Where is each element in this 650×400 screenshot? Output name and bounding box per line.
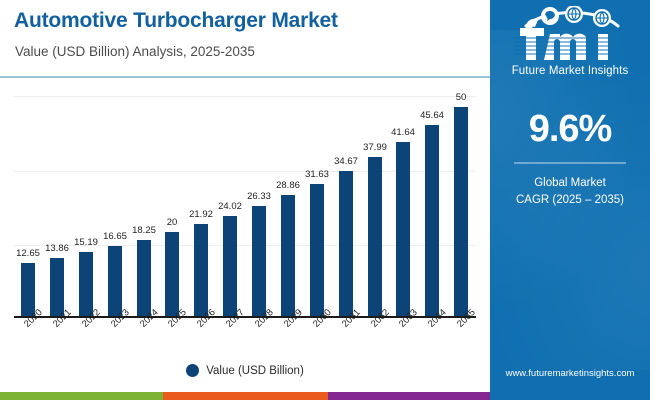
bar-rect xyxy=(137,240,151,316)
bar-rect xyxy=(281,195,295,316)
bar-2035: 50 xyxy=(447,86,476,316)
bar-rect xyxy=(396,142,410,316)
bar-2028: 26.33 xyxy=(245,86,274,316)
bar-rect xyxy=(108,246,122,316)
bar-2020: 12.65 xyxy=(14,86,43,316)
bar-2029: 28.86 xyxy=(274,86,303,316)
bar-rect xyxy=(425,125,439,316)
bar-rect xyxy=(454,107,468,316)
footer-stripe-purple xyxy=(328,392,490,400)
bar-rect xyxy=(310,184,324,316)
cagr-caption-line-2: CAGR (2025 – 2035) xyxy=(490,192,650,209)
chart-screenshot: Automotive Turbocharger Market Value (US… xyxy=(0,0,650,400)
cagr-caption-line-1: Global Market xyxy=(490,175,650,192)
filled-circle-icon xyxy=(186,364,199,377)
brand-panel: Future Market Insights 9.6% Global Marke… xyxy=(490,0,650,400)
fmi-logo-wordmark: Future Market Insights xyxy=(512,65,629,77)
fmi-logo-mark xyxy=(506,6,634,64)
bar-rect xyxy=(194,224,208,316)
cagr-value: 9.6% xyxy=(490,110,650,148)
bar-2025: 20 xyxy=(158,86,187,316)
cagr-divider xyxy=(514,162,626,164)
header-divider xyxy=(0,76,490,78)
website-url: www.futuremarketinsights.com xyxy=(490,368,650,379)
bar-2032: 37.99 xyxy=(361,86,390,316)
footer-stripe-green xyxy=(0,392,163,400)
bar-rect xyxy=(79,252,93,316)
bar-rect xyxy=(21,263,35,316)
bar-rect xyxy=(165,232,179,316)
bar-rect xyxy=(339,171,353,316)
bar-rect xyxy=(50,258,64,316)
fmi-logo: Future Market Insights xyxy=(490,6,650,92)
footer-stripe-orange xyxy=(163,392,328,400)
bar-value-label: 50 xyxy=(437,92,485,103)
plot-area: 12.6513.8615.1916.6518.252021.9224.0226.… xyxy=(14,86,476,318)
chart-panel: Automotive Turbocharger Market Value (US… xyxy=(0,0,490,400)
bar-2031: 34.67 xyxy=(332,86,361,316)
bar-2030: 31.63 xyxy=(303,86,332,316)
bar-series: 12.6513.8615.1916.6518.252021.9224.0226.… xyxy=(14,86,476,316)
bar-2021: 13.86 xyxy=(43,86,72,316)
page-title: Automotive Turbocharger Market xyxy=(14,9,338,33)
cagr-highlight: 9.6% Global Market CAGR (2025 – 2035) xyxy=(490,110,650,210)
chart-legend: Value (USD Billion) xyxy=(0,364,490,377)
bar-rect xyxy=(252,206,266,316)
bar-2023: 16.65 xyxy=(101,86,130,316)
chart-header: Automotive Turbocharger Market Value (US… xyxy=(0,0,490,77)
bar-2034: 45.64 xyxy=(418,86,447,316)
bar-2024: 18.25 xyxy=(130,86,159,316)
bar-rect xyxy=(368,157,382,316)
bar-2022: 15.19 xyxy=(72,86,101,316)
bar-rect xyxy=(223,216,237,316)
legend-item-label: Value (USD Billion) xyxy=(206,365,304,377)
page-subtitle: Value (USD Billion) Analysis, 2025-2035 xyxy=(15,44,255,59)
